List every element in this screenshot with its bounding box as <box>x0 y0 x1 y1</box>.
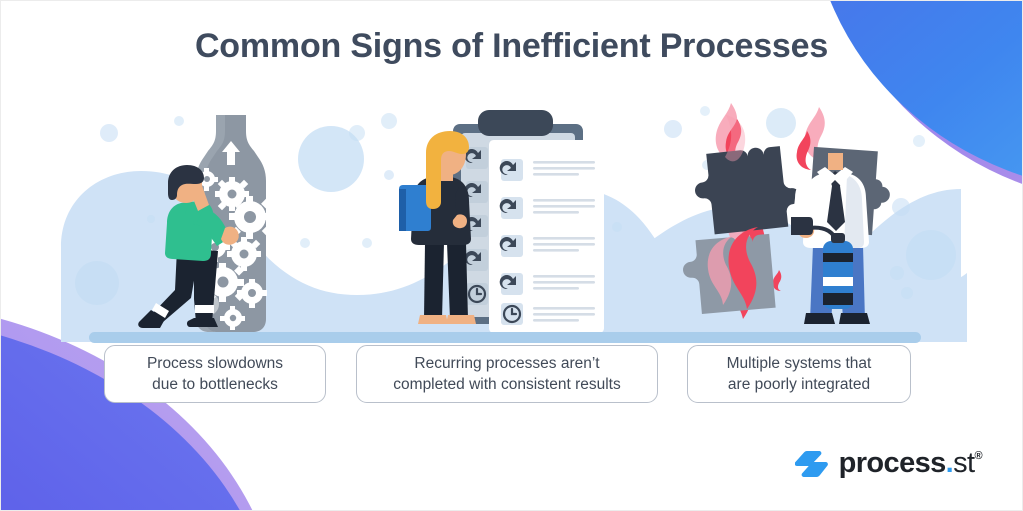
ground-bar <box>89 332 921 343</box>
extinguisher-band-mid <box>823 277 853 286</box>
refresh-icon <box>465 249 488 271</box>
woman-leg-right <box>447 243 468 319</box>
registered-trademark-symbol: ® <box>974 451 982 462</box>
caption-line-2: due to bottlenecks <box>152 376 278 393</box>
person-shoe-front <box>187 318 218 327</box>
bottom-left-blue-layer <box>0 314 275 511</box>
caption-box-bottlenecks: Process slowdowns due to bottlenecks <box>104 345 326 403</box>
clock-icon <box>466 283 488 305</box>
caption-text: Recurring processes aren’t completed wit… <box>393 353 620 395</box>
caption-line-2: completed with consistent results <box>393 376 620 393</box>
caption-line-1: Process slowdowns <box>147 355 283 372</box>
page-title: Common Signs of Inefficient Processes <box>1 27 1022 66</box>
clipboard-clip <box>478 110 553 136</box>
woman-shoe-right <box>446 315 476 324</box>
process-st-logo[interactable]: process.st® <box>795 449 982 478</box>
person-sock-front <box>195 305 214 313</box>
scene-recurring-illustration <box>399 110 604 333</box>
woman-leg-left <box>424 243 444 319</box>
man-shoe-left <box>804 313 835 324</box>
logo-wordmark: process.st® <box>839 449 982 478</box>
man-shoe-right <box>839 313 870 324</box>
extinguisher-band-bottom <box>823 293 853 305</box>
caption-text: Multiple systems that are poorly integra… <box>727 353 872 395</box>
extinguisher-band-top <box>823 253 853 262</box>
caption-line-1: Multiple systems that <box>727 355 872 372</box>
process-st-double-slash-mark <box>795 450 828 478</box>
illustration-stage <box>1 97 1023 342</box>
logo-word-main: process <box>839 449 946 478</box>
blue-folder-edge <box>399 189 406 231</box>
extinguisher-nozzle <box>791 217 813 235</box>
caption-line-1: Recurring processes aren’t <box>414 355 599 372</box>
infographic-canvas: Common Signs of Inefficient Processes <box>0 0 1023 511</box>
caption-text: Process slowdowns due to bottlenecks <box>147 353 283 395</box>
logo-word-suffix: st <box>953 449 974 478</box>
caption-box-recurring-processes: Recurring processes aren’t completed wit… <box>356 345 658 403</box>
caption-line-2: are poorly integrated <box>728 376 870 393</box>
logo-dot: . <box>946 449 953 478</box>
woman-shoe-left <box>418 315 448 324</box>
caption-box-multiple-systems: Multiple systems that are poorly integra… <box>687 345 911 403</box>
extinguisher-neck <box>831 233 845 243</box>
